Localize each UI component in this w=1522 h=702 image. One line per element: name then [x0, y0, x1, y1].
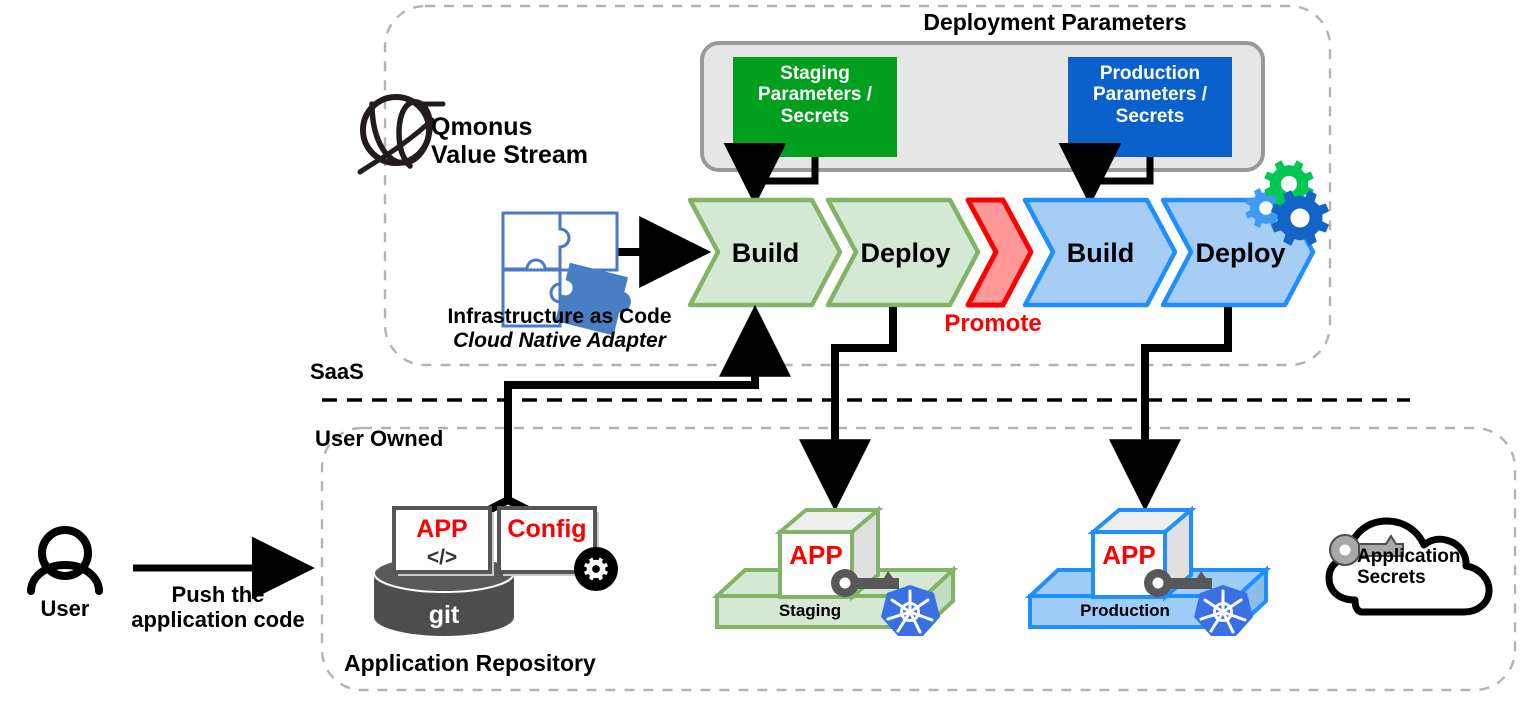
production-deploy-to-env-connector	[1145, 307, 1228, 500]
config-card-title: Config	[499, 515, 595, 543]
production-cube-label: APP	[1093, 541, 1165, 570]
production-env-label: Production	[1040, 601, 1210, 620]
deployment-parameters-title: Deployment Parameters	[770, 10, 1340, 36]
push-action-label: Push theapplication code	[118, 583, 318, 632]
user-label: User	[22, 597, 108, 622]
staging-parameters-label: StagingParameters /Secrets	[733, 63, 897, 127]
iac-label: Infrastructure as CodeCloud Native Adapt…	[418, 305, 701, 352]
application-repository-caption: Application Repository	[344, 651, 544, 677]
promote-label: Promote	[928, 311, 1058, 338]
production-parameters-label: ProductionParameters /Secrets	[1068, 63, 1232, 127]
app-card-title: APP	[394, 515, 490, 543]
staging-cube-label: APP	[780, 541, 852, 570]
staging-env-label: Staging	[735, 601, 885, 620]
saas-region-label: SaaS	[310, 360, 364, 385]
app-card-subtitle: </>	[394, 546, 490, 570]
user-owned-region-label: User Owned	[315, 427, 443, 452]
staging-build-label: Build	[703, 238, 828, 268]
production-build-label: Build	[1038, 238, 1163, 268]
staging-deploy-label: Deploy	[843, 238, 968, 268]
brand-name: QmonusValue Stream	[431, 113, 588, 169]
user-avatar-icon	[31, 530, 99, 591]
production-deploy-label: Deploy	[1178, 238, 1303, 268]
application-secrets-label: ApplicationSecrets	[1357, 546, 1460, 589]
git-label: git	[374, 601, 514, 629]
gear-badge-icon	[574, 547, 618, 591]
diagram-canvas: Deployment Parameters StagingParameters …	[0, 0, 1522, 702]
staging-deploy-to-env-connector	[835, 307, 893, 500]
